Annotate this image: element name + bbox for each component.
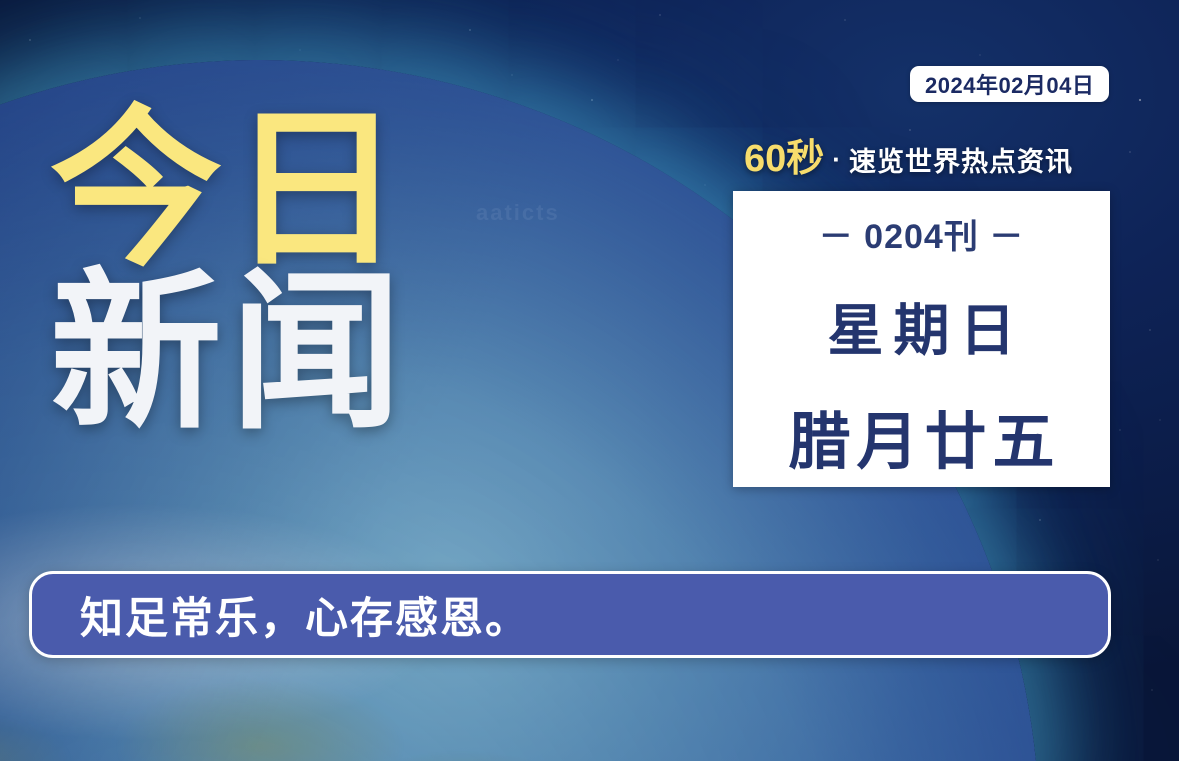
watermark-text: aaticts bbox=[476, 200, 560, 226]
issue-number: － 0204刊 － bbox=[819, 209, 1025, 258]
tagline-seconds: 60秒 bbox=[744, 140, 824, 178]
quote-text: 知足常乐，心存感恩。 bbox=[80, 584, 530, 646]
lunar-date-label: 腊月廿五 bbox=[782, 391, 1060, 481]
news-poster: aaticts 2024年02月04日 60秒 · 速览世界热点资讯 今日 新闻… bbox=[0, 0, 1179, 761]
tagline-separator-dot: · bbox=[832, 146, 841, 172]
page-title: 今日 新闻 bbox=[50, 106, 410, 437]
date-badge: 2024年02月04日 bbox=[910, 66, 1109, 102]
weekday-label: 星期日 bbox=[818, 286, 1026, 367]
tagline-subtitle: 速览世界热点资讯 bbox=[849, 149, 1073, 176]
page-title-line-2: 新闻 bbox=[50, 269, 410, 438]
date-info-card: － 0204刊 － 星期日 腊月廿五 bbox=[733, 191, 1110, 487]
quote-banner: 知足常乐，心存感恩。 bbox=[29, 571, 1111, 658]
tagline: 60秒 · 速览世界热点资讯 bbox=[744, 140, 1073, 178]
page-title-line-1: 今日 bbox=[50, 106, 410, 275]
